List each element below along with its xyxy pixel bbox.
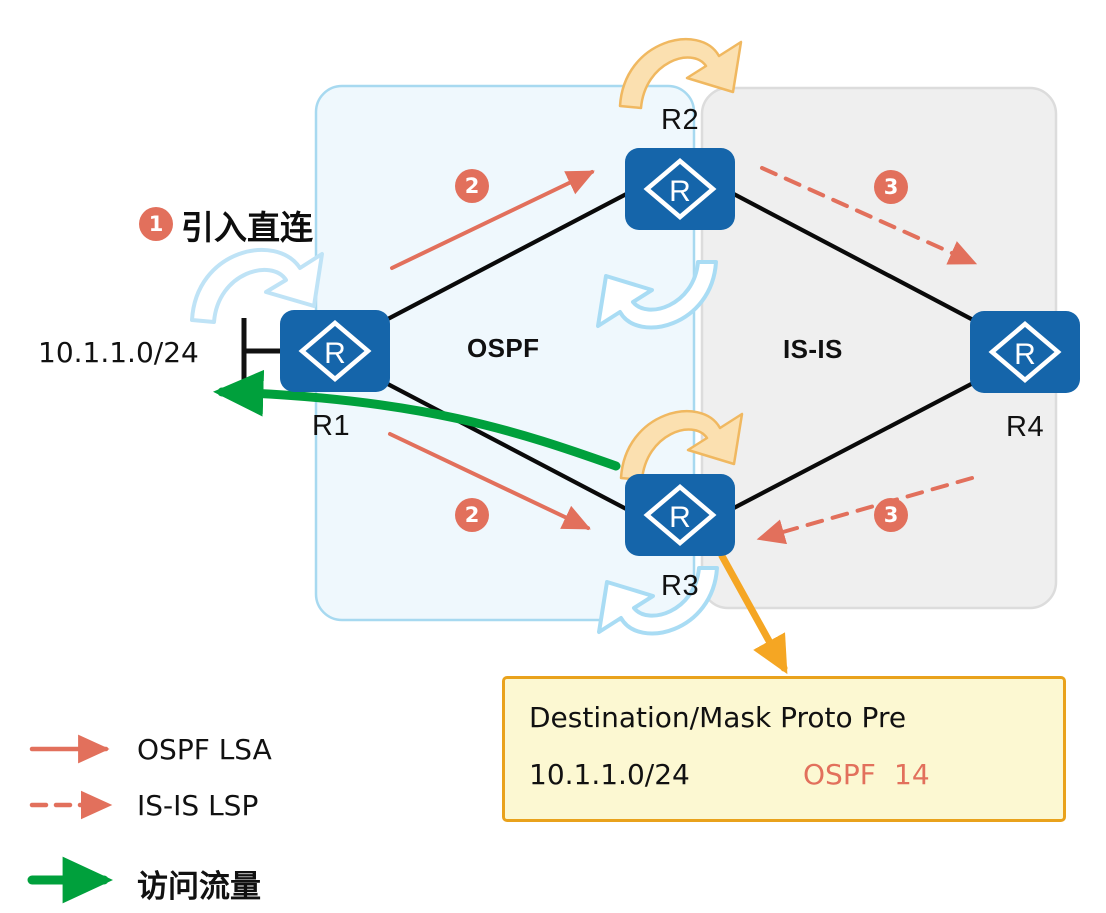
- area-label-isis: IS-IS: [783, 334, 843, 365]
- route-table-destination: 10.1.1.0/24: [529, 758, 690, 791]
- router-node-r4[interactable]: R: [970, 311, 1080, 393]
- legend-label-ospf-lsa: OSPF LSA: [137, 733, 272, 766]
- route-table-header: Destination/Mask Proto Pre: [529, 701, 906, 734]
- svg-text:R: R: [324, 337, 346, 370]
- route-table-pre: 14: [894, 758, 930, 791]
- svg-text:R: R: [1014, 338, 1036, 371]
- interface-symbol: [244, 318, 285, 384]
- router-label-r3: R3: [661, 570, 699, 603]
- router-icon: R: [643, 156, 717, 222]
- svg-text:R: R: [669, 175, 691, 208]
- step-1-annotation: 引入直连: [181, 201, 313, 249]
- step-badge-1: 1: [139, 207, 173, 241]
- route-table-box: Destination/Mask Proto Pre 10.1.1.0/24 O…: [502, 676, 1066, 822]
- step-badge-2-upper: 2: [455, 169, 489, 203]
- network-diagram: R R1 R R2 R R3 R R4 OSPF IS-IS 10.1.1.0/…: [0, 0, 1106, 913]
- legend-label-traffic: 访问流量: [137, 861, 261, 906]
- step-badge-3-lower: 3: [874, 498, 908, 532]
- route-table-proto: OSPF: [803, 758, 876, 791]
- legend-swatches: [32, 749, 106, 880]
- router-label-r2: R2: [661, 104, 699, 137]
- router-icon: R: [988, 319, 1062, 385]
- network-prefix-label: 10.1.1.0/24: [38, 336, 199, 369]
- router-node-r3[interactable]: R: [625, 474, 735, 556]
- router-label-r4: R4: [1006, 411, 1044, 444]
- router-node-r1[interactable]: R: [280, 310, 390, 392]
- router-icon: R: [643, 482, 717, 548]
- svg-text:R: R: [669, 501, 691, 534]
- step-badge-2-lower: 2: [455, 498, 489, 532]
- router-node-r2[interactable]: R: [625, 148, 735, 230]
- step-badge-3-upper: 3: [874, 170, 908, 204]
- router-icon: R: [298, 318, 372, 384]
- router-label-r1: R1: [312, 410, 350, 443]
- legend-label-isis-lsp: IS-IS LSP: [137, 789, 258, 822]
- area-label-ospf: OSPF: [467, 333, 539, 364]
